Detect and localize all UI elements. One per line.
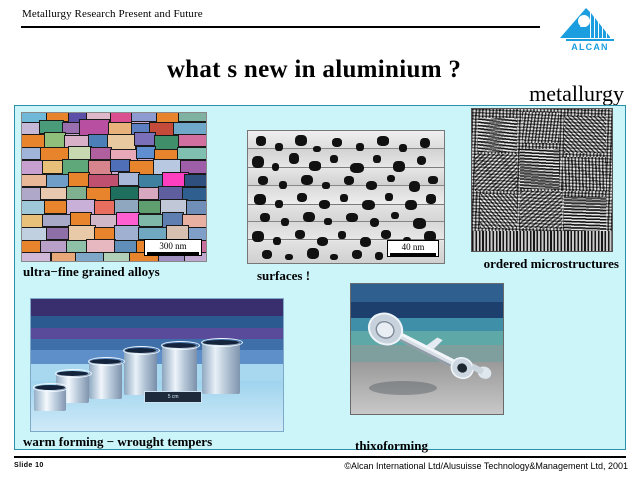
caption-warm-forming: warm forming − wrought tempers	[23, 434, 212, 450]
connecting-rod-shape	[351, 284, 503, 414]
alcan-logo-mark: ALCAN	[556, 4, 618, 52]
slide: Metallurgy Research Present and Future A…	[0, 0, 640, 480]
figure-warm-forming: 5 cm	[30, 298, 284, 432]
figure-surfaces: 40 nm	[247, 130, 445, 264]
ebsd-grain-map-image: 300 nm	[22, 113, 206, 261]
slide-number: Slide 10	[14, 462, 44, 469]
caption-ultra-fine-grained-alloys: ultra−fine grained alloys	[23, 264, 160, 280]
scalebar-5cm: 5 cm	[144, 391, 201, 402]
scalebar-300nm: 300 nm	[144, 239, 202, 256]
page-title: what s new in aluminium ?	[0, 56, 640, 84]
scalebar-40nm: 40 nm	[387, 240, 439, 257]
page-subtitle: metallurgy	[529, 81, 624, 107]
alcan-wordmark: ALCAN	[571, 42, 609, 52]
header-divider	[21, 26, 540, 28]
cup-4	[124, 349, 157, 395]
alcan-logo: ALCAN	[556, 4, 618, 52]
hrtem-lattice-image	[472, 109, 612, 251]
figure-ultra-fine-grained-alloys: 300 nm	[21, 112, 207, 262]
caption-ordered-microstructures: ordered microstructures	[484, 256, 619, 272]
footer-divider	[14, 456, 626, 458]
cup-3	[89, 360, 122, 400]
tem-micrograph-image: 40 nm	[248, 131, 444, 263]
cup-6	[202, 341, 240, 394]
figure-ordered-microstructures	[471, 108, 613, 252]
caption-thixoforming: thixoforming	[355, 438, 428, 454]
content-area: 300 nm ultra−fine grained alloys	[14, 105, 626, 450]
figure-thixoforming	[350, 283, 504, 415]
caption-surfaces: surfaces !	[257, 268, 310, 284]
deep-drawn-cups-photo: 5 cm	[31, 299, 283, 431]
copyright-notice: ©Alcan International Ltd/Alusuisse Techn…	[344, 461, 628, 471]
slide-header-text: Metallurgy Research Present and Future	[22, 8, 203, 20]
cup-5	[162, 344, 197, 394]
connecting-rod-photo	[351, 284, 503, 414]
cup-1	[34, 386, 67, 411]
